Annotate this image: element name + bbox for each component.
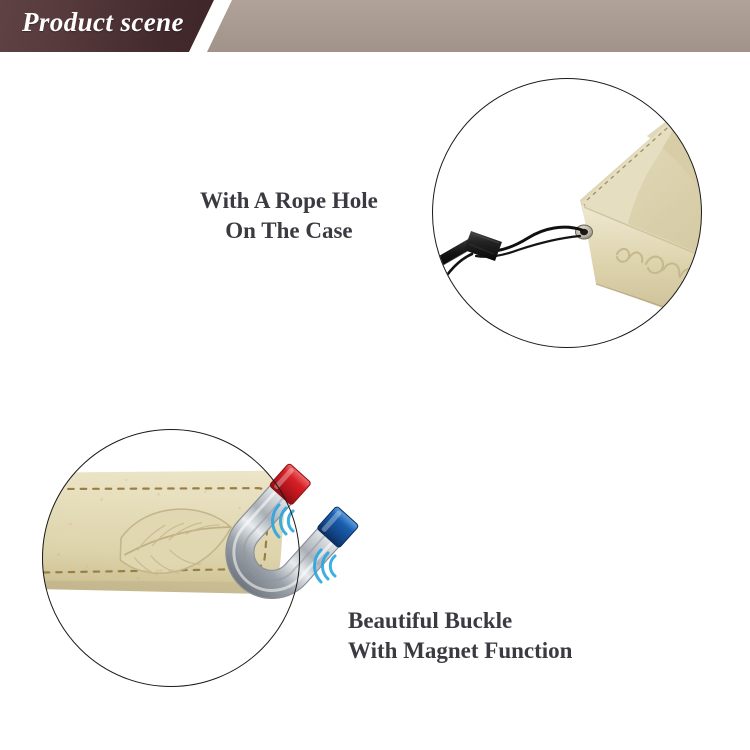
caption-rope-hole-line2: On The Case — [200, 216, 378, 246]
bottom-circle-frame — [42, 429, 300, 687]
top-circle-frame — [432, 78, 702, 348]
caption-magnet-buckle-line2: With Magnet Function — [348, 636, 572, 666]
caption-magnet-buckle-line1: Beautiful Buckle — [348, 608, 512, 633]
caption-rope-hole-line1: With A Rope Hole — [200, 188, 378, 213]
caption-magnet-buckle: Beautiful Buckle With Magnet Function — [348, 606, 572, 666]
header-banner: Product scene — [0, 0, 750, 52]
page-title: Product scene — [22, 7, 184, 38]
caption-rope-hole: With A Rope Hole On The Case — [200, 186, 378, 246]
product-scene-image: Product scene — [0, 0, 750, 750]
